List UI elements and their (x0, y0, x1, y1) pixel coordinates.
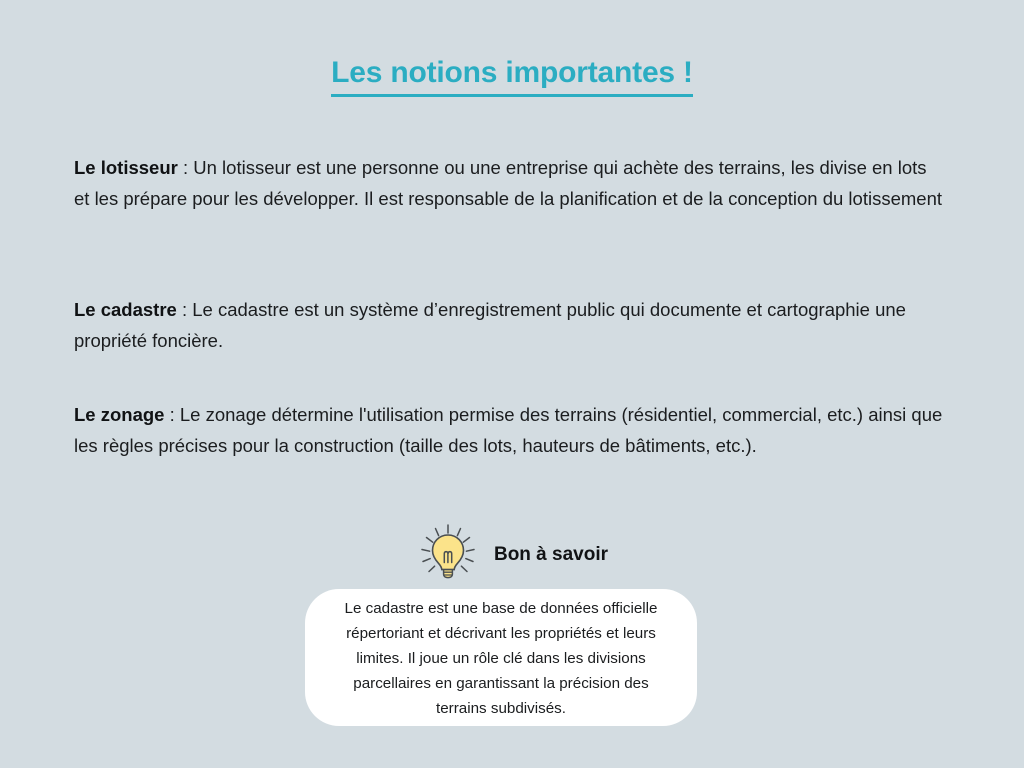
tip-header: Bon à savoir (0, 524, 1024, 582)
definition-separator-lotisseur: : (178, 157, 193, 178)
lightbulb-icon (416, 524, 480, 582)
definition-block-zonage: Le zonage : Le zonage détermine l'utilis… (74, 399, 944, 461)
definition-body-lotisseur: Un lotisseur est une personne ou une ent… (74, 157, 942, 209)
page-title: Les notions importantes ! (0, 56, 1024, 97)
definition-block-cadastre: Le cadastre : Le cadastre est un système… (74, 294, 944, 356)
page-title-text: Les notions importantes ! (331, 56, 693, 97)
definition-term-zonage: Le zonage (74, 404, 164, 425)
definition-term-lotisseur: Le lotisseur (74, 157, 178, 178)
tip-card-text: Le cadastre est une base de données offi… (327, 596, 675, 721)
slide-canvas: Les notions importantes ! Le lotisseur :… (0, 0, 1024, 768)
definition-block-lotisseur: Le lotisseur : Un lotisseur est une pers… (74, 152, 944, 214)
tip-label: Bon à savoir (494, 544, 608, 566)
definition-term-cadastre: Le cadastre (74, 299, 177, 320)
definition-body-cadastre: Le cadastre est un système d’enregistrem… (74, 299, 906, 351)
definition-body-zonage: Le zonage détermine l'utilisation permis… (74, 404, 942, 456)
definition-separator-zonage: : (164, 404, 179, 425)
definition-separator-cadastre: : (177, 299, 192, 320)
tip-card: Le cadastre est une base de données offi… (305, 589, 697, 726)
